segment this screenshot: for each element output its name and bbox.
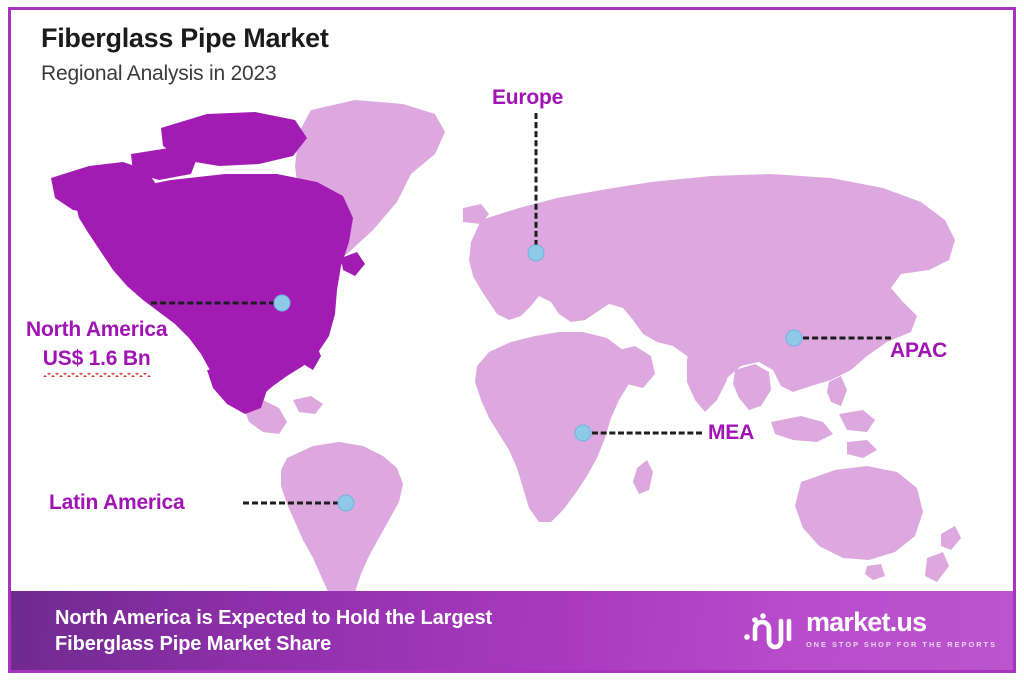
- market-us-logo-icon: [743, 607, 797, 651]
- region-value-north-america: US$ 1.6 Bn: [26, 347, 167, 372]
- region-label-mea: MEA: [708, 421, 754, 446]
- brand-logo[interactable]: market.us ONE STOP SHOP FOR THE REPORTS: [743, 607, 997, 651]
- logo-tagline: ONE STOP SHOP FOR THE REPORTS: [806, 640, 997, 649]
- map-marker-europe[interactable]: [528, 245, 545, 262]
- map-marker-latin-america[interactable]: [338, 495, 355, 512]
- map-regions-default: [243, 100, 961, 610]
- region-label-north-america: North America US$ 1.6 Bn: [26, 318, 167, 372]
- leader-line-mea: [592, 432, 702, 435]
- banner-headline-line1: North America is Expected to Hold the La…: [55, 605, 492, 631]
- infographic-canvas: Fiberglass Pipe Market Regional Analysis…: [0, 0, 1024, 682]
- logo-name: market.us: [806, 609, 997, 636]
- banner-headline: North America is Expected to Hold the La…: [55, 605, 492, 658]
- region-label-latin-america: Latin America: [49, 491, 185, 516]
- region-label-europe: Europe: [492, 86, 563, 111]
- region-label-apac: APAC: [890, 339, 947, 364]
- map-marker-apac[interactable]: [786, 330, 803, 347]
- map-marker-north-america[interactable]: [274, 295, 291, 312]
- map-marker-mea[interactable]: [575, 425, 592, 442]
- banner-headline-line2: Fiberglass Pipe Market Share: [55, 631, 492, 657]
- logo-text-block: market.us ONE STOP SHOP FOR THE REPORTS: [806, 609, 997, 649]
- bottom-banner: North America is Expected to Hold the La…: [11, 591, 1016, 670]
- infographic-frame: Fiberglass Pipe Market Regional Analysis…: [8, 7, 1016, 673]
- leader-line-latin-america: [243, 502, 339, 505]
- leader-line-north-america: [151, 302, 275, 305]
- leader-line-apac: [803, 337, 891, 340]
- region-label-north-america-name: North America: [26, 318, 167, 341]
- page-title: Fiberglass Pipe Market: [41, 22, 329, 56]
- leader-line-europe: [535, 113, 538, 246]
